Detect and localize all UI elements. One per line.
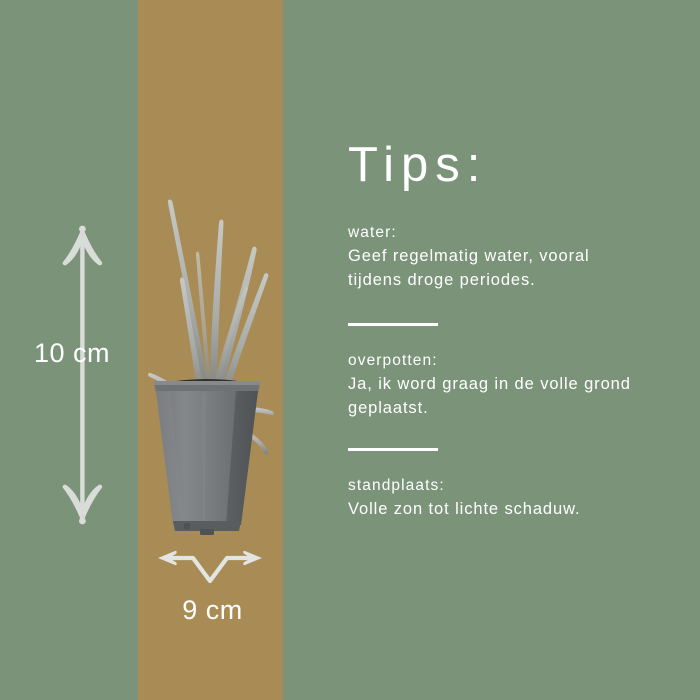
tip-block-overpotten: overpotten: Ja, ik word graag in de voll… — [348, 349, 668, 421]
plant-care-card: 10 cm — [0, 0, 700, 700]
tip-body-standplaats: Volle zon tot lichte schaduw. — [348, 498, 648, 522]
tip-heading-overpotten: overpotten: — [348, 349, 668, 373]
tip-divider-1 — [348, 323, 438, 326]
height-dimension-arrow-icon — [52, 222, 114, 528]
tip-heading-water: water: — [348, 221, 668, 245]
width-dimension-label: 9 cm — [140, 597, 285, 624]
width-dimension-arrow-icon — [155, 538, 265, 584]
tip-heading-standplaats: standplaats: — [348, 474, 668, 498]
tip-body-water: Geef regelmatig water, vooral tijdens dr… — [348, 245, 648, 293]
tip-block-standplaats: standplaats: Volle zon tot lichte schadu… — [348, 474, 668, 522]
height-dimension-label: 10 cm — [14, 340, 130, 367]
tip-block-water: water: Geef regelmatig water, vooral tij… — [348, 221, 668, 293]
tips-title: Tips: — [348, 140, 668, 191]
tip-divider-2 — [348, 448, 438, 451]
plant-in-pot-image — [140, 185, 275, 535]
tip-body-overpotten: Ja, ik word graag in de volle grond gepl… — [348, 373, 648, 421]
tips-panel: Tips: water: Geef regelmatig water, voor… — [348, 140, 668, 522]
